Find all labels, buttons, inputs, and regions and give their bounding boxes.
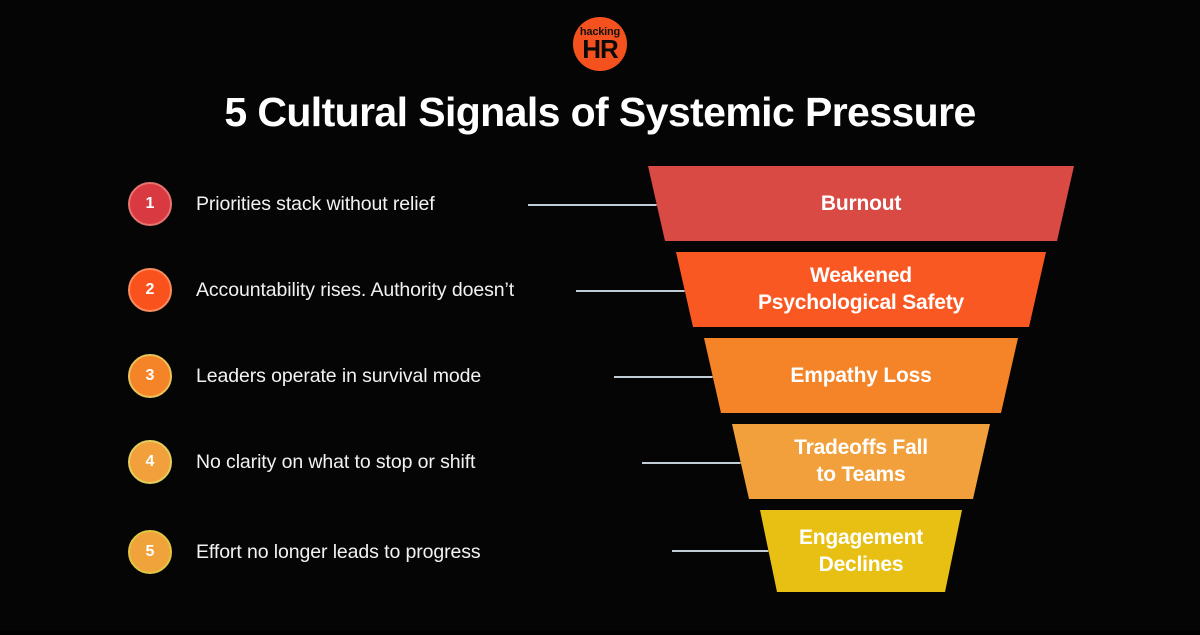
funnel-segment-label-1: Burnout	[681, 190, 1041, 217]
funnel-segment-1	[648, 166, 1074, 241]
funnel-connector-4	[642, 462, 741, 464]
funnel-segment-3	[704, 338, 1018, 413]
funnel-segment-label-4: Tradeoffs Fall to Teams	[681, 434, 1041, 488]
funnel-segment-label-5: Engagement Declines	[681, 524, 1041, 578]
signal-label-1: Priorities stack without relief	[196, 193, 435, 216]
signal-label-5: Effort no longer leads to progress	[196, 541, 481, 564]
signal-badge-2: 2	[128, 268, 172, 312]
funnel-segment-label-2: Weakened Psychological Safety	[681, 262, 1041, 316]
signal-label-3: Leaders operate in survival mode	[196, 365, 481, 388]
signal-badge-3: 3	[128, 354, 172, 398]
funnel-segment-label-3: Empathy Loss	[681, 362, 1041, 389]
signal-row-1: 1Priorities stack without relief	[128, 180, 435, 228]
funnel-connector-3	[614, 376, 713, 378]
signal-row-5: 5Effort no longer leads to progress	[128, 528, 481, 576]
signal-badge-4: 4	[128, 440, 172, 484]
funnel-connector-5	[672, 550, 768, 552]
signal-badge-5: 5	[128, 530, 172, 574]
signal-label-4: No clarity on what to stop or shift	[196, 451, 475, 474]
signal-label-2: Accountability rises. Authority doesn’t	[196, 279, 514, 302]
funnel-segment-4	[732, 424, 990, 499]
signal-row-4: 4No clarity on what to stop or shift	[128, 438, 475, 486]
signal-row-3: 3Leaders operate in survival mode	[128, 352, 481, 400]
signals-list: 1Priorities stack without relief2Account…	[0, 0, 620, 630]
funnel-segment-5	[760, 510, 962, 592]
infographic-canvas: hacking HR 5 Cultural Signals of Systemi…	[0, 0, 1200, 630]
signal-row-2: 2Accountability rises. Authority doesn’t	[128, 266, 514, 314]
funnel-segment-2	[676, 252, 1046, 327]
signal-badge-1: 1	[128, 182, 172, 226]
